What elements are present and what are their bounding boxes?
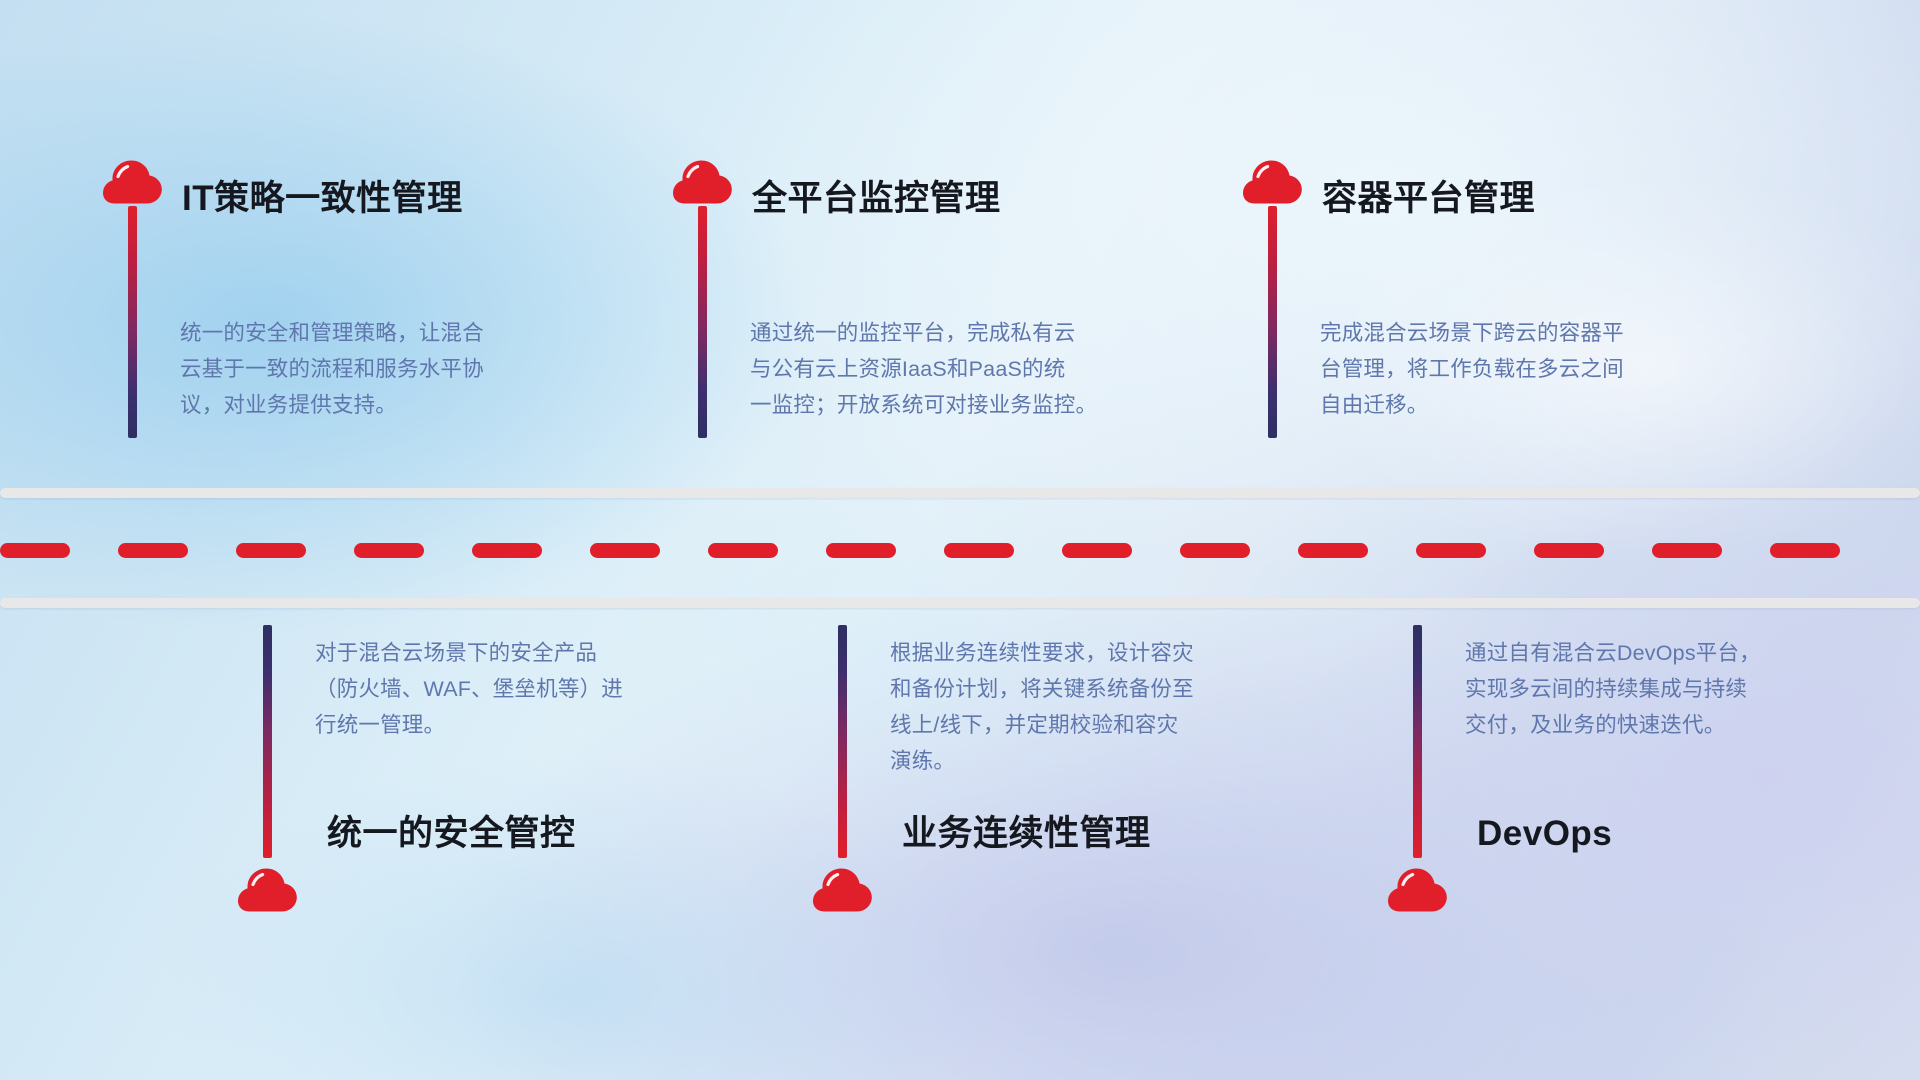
marker-top-2: [670, 150, 736, 438]
marker-stem: [1413, 625, 1422, 858]
milestone-description: 统一的安全和管理策略，让混合云基于一致的流程和服务水平协议，对业务提供支持。: [180, 315, 630, 423]
road-dash: [354, 543, 424, 558]
road-edge-bottom: [0, 598, 1920, 608]
description-line: 完成混合云场景下跨云的容器平: [1320, 315, 1770, 351]
milestone-description: 对于混合云场景下的安全产品（防火墙、WAF、堡垒机等）进行统一管理。: [315, 635, 765, 743]
road-dash: [590, 543, 660, 558]
description-line: 演练。: [890, 743, 1340, 779]
marker-stem: [698, 206, 707, 438]
milestone-description: 根据业务连续性要求，设计容灾和备份计划，将关键系统备份至线上/线下，并定期校验和…: [890, 635, 1340, 779]
road-dash: [708, 543, 778, 558]
description-line: 云基于一致的流程和服务水平协: [180, 351, 630, 387]
description-line: 议，对业务提供支持。: [180, 387, 630, 423]
milestone-heading: 统一的安全管控: [327, 813, 576, 855]
road-divider: [0, 488, 1920, 608]
description-line: 统一的安全和管理策略，让混合: [180, 315, 630, 351]
road-dash: [118, 543, 188, 558]
road-dash: [944, 543, 1014, 558]
milestone-description: 通过统一的监控平台，完成私有云与公有云上资源IaaS和PaaS的统一监控；开放系…: [750, 315, 1220, 423]
cloud-icon: [1240, 150, 1306, 206]
road-dash: [1770, 543, 1840, 558]
description-line: 线上/线下，并定期校验和容灾: [890, 707, 1340, 743]
milestone-heading: 业务连续性管理: [902, 813, 1151, 855]
road-dash: [236, 543, 306, 558]
marker-top-1: [100, 150, 166, 438]
description-line: 通过自有混合云DevOps平台，: [1465, 635, 1905, 671]
marker-bottom-2: [810, 625, 876, 914]
road-dash: [1416, 543, 1486, 558]
milestone-description: 完成混合云场景下跨云的容器平台管理，将工作负载在多云之间自由迁移。: [1320, 315, 1770, 423]
marker-top-3: [1240, 150, 1306, 438]
description-line: 一监控；开放系统可对接业务监控。: [750, 387, 1220, 423]
description-line: 交付，及业务的快速迭代。: [1465, 707, 1905, 743]
cloud-icon: [1385, 858, 1451, 914]
road-dash: [1180, 543, 1250, 558]
description-line: 台管理，将工作负载在多云之间: [1320, 351, 1770, 387]
road-dash: [1062, 543, 1132, 558]
road-dash: [472, 543, 542, 558]
description-line: 和备份计划，将关键系统备份至: [890, 671, 1340, 707]
marker-stem: [263, 625, 272, 858]
description-line: 实现多云间的持续集成与持续: [1465, 671, 1905, 707]
road-dash: [0, 543, 70, 558]
marker-bottom-1: [235, 625, 301, 914]
road-center-dashes: [0, 543, 1920, 558]
marker-bottom-3: [1385, 625, 1451, 914]
description-line: （防火墙、WAF、堡垒机等）进: [315, 671, 765, 707]
milestone-description: 通过自有混合云DevOps平台，实现多云间的持续集成与持续交付，及业务的快速迭代…: [1465, 635, 1905, 743]
description-line: 对于混合云场景下的安全产品: [315, 635, 765, 671]
road-dash: [1534, 543, 1604, 558]
milestone-heading: 容器平台管理: [1322, 178, 1535, 220]
description-line: 自由迁移。: [1320, 387, 1770, 423]
milestone-heading: IT策略一致性管理: [182, 178, 463, 220]
road-dash: [1652, 543, 1722, 558]
description-line: 行统一管理。: [315, 707, 765, 743]
road-dash: [1298, 543, 1368, 558]
cloud-icon: [100, 150, 166, 206]
description-line: 与公有云上资源IaaS和PaaS的统: [750, 351, 1220, 387]
road-dash: [826, 543, 896, 558]
cloud-icon: [670, 150, 736, 206]
cloud-icon: [235, 858, 301, 914]
marker-stem: [128, 206, 137, 438]
milestone-heading: DevOps: [1477, 813, 1612, 855]
road-edge-top: [0, 488, 1920, 498]
marker-stem: [1268, 206, 1277, 438]
description-line: 通过统一的监控平台，完成私有云: [750, 315, 1220, 351]
description-line: 根据业务连续性要求，设计容灾: [890, 635, 1340, 671]
marker-stem: [838, 625, 847, 858]
milestone-heading: 全平台监控管理: [752, 178, 1001, 220]
cloud-icon: [810, 858, 876, 914]
